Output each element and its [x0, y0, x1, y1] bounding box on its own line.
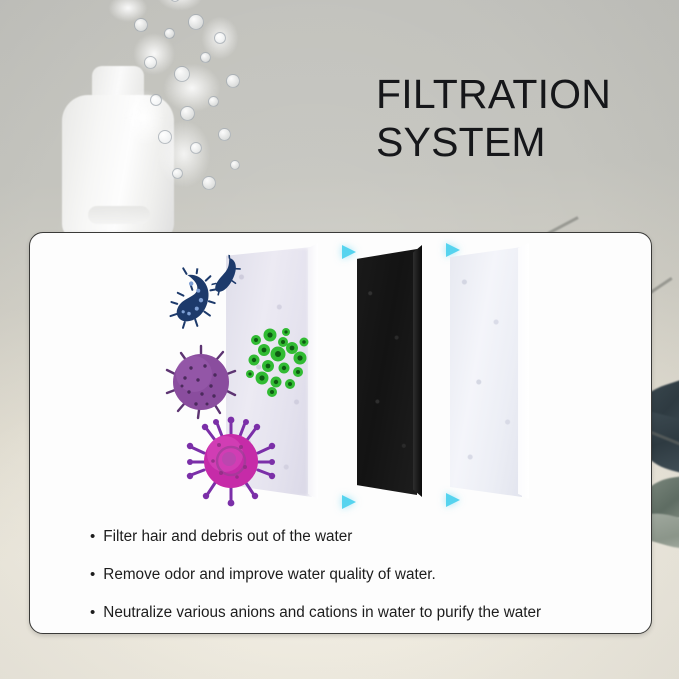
magenta-virus-icon	[185, 415, 277, 507]
list-item: • Filter hair and debris out of the wate…	[90, 527, 630, 547]
bullet-text: Remove odor and improve water quality of…	[103, 565, 435, 585]
title-line-2: SYSTEM	[376, 118, 666, 166]
title-line-1: FILTRATION	[376, 70, 666, 118]
bullet-text: Filter hair and debris out of the water	[103, 527, 352, 547]
bullet-marker: •	[90, 603, 95, 623]
flow-arrow-bottom-right	[422, 489, 462, 511]
bullet-marker: •	[90, 527, 95, 547]
filter-layer-activated-carbon-edge	[413, 245, 422, 497]
filtration-diagram	[30, 233, 651, 518]
info-card: • Filter hair and debris out of the wate…	[29, 232, 652, 634]
filter-layer-white-mesh-2-edge	[518, 243, 529, 499]
page-title: FILTRATION SYSTEM	[376, 70, 666, 166]
list-item: • Neutralize various anions and cations …	[90, 603, 630, 623]
feature-list: • Filter hair and debris out of the wate…	[90, 527, 630, 634]
green-bacteria-colony-icon	[242, 328, 322, 400]
flow-arrow-bottom-left	[318, 491, 358, 513]
bullet-marker: •	[90, 565, 95, 585]
filter-layer-activated-carbon	[357, 249, 417, 495]
filter-layer-white-mesh-2	[450, 247, 522, 497]
flow-arrow-top-left	[318, 241, 358, 263]
product-infographic: FILTRATION SYSTEM	[0, 0, 679, 679]
bullet-text: Neutralize various anions and cations in…	[103, 603, 541, 623]
purple-germ-sphere-icon	[163, 344, 239, 420]
list-item: • Remove odor and improve water quality …	[90, 565, 630, 585]
